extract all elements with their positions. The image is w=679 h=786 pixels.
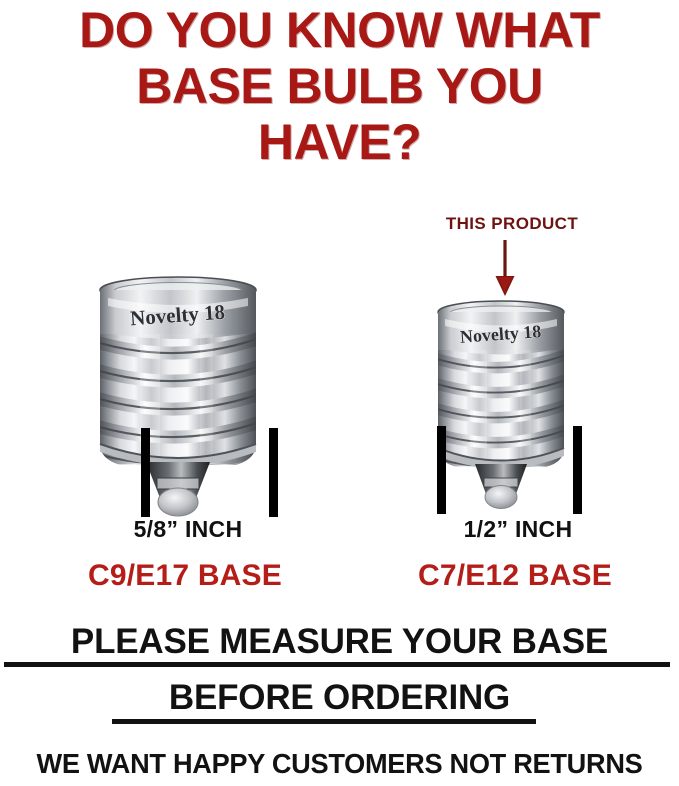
bulb-figure-right: Novelty 18 [428, 288, 588, 517]
message-underline-2 [112, 719, 536, 724]
base-name-right: C7/E12 BASE [370, 559, 660, 593]
measure-tick-left-start [141, 428, 150, 517]
measure-tick-right-end [573, 426, 582, 514]
bulb-figure-left: Novelty 18 [88, 262, 288, 517]
message-line-1: PLEASE MEASURE YOUR BASE [0, 622, 679, 662]
message-line-3: WE WANT HAPPY CUSTOMERS NOT RETURNS [10, 748, 669, 780]
headline-line-1: DO YOU KNOW WHAT [0, 2, 679, 58]
this-product-label: THIS PRODUCT [398, 214, 626, 234]
base-name-left: C9/E17 BASE [40, 559, 330, 593]
message-line-2: BEFORE ORDERING [0, 678, 679, 718]
headline-line-2: BASE BULB YOU [0, 58, 679, 114]
infographic-canvas: DO YOU KNOW WHAT BASE BULB YOU HAVE? THI… [0, 0, 679, 786]
measure-tick-left-end [269, 428, 278, 517]
measurement-right: 1/2” INCH [398, 516, 638, 543]
headline-line-3: HAVE? [0, 114, 679, 170]
measurement-left: 5/8” INCH [58, 516, 318, 543]
measure-tick-right-start [437, 426, 446, 514]
message-underline-1 [4, 662, 670, 667]
page-title: DO YOU KNOW WHAT BASE BULB YOU HAVE? [0, 2, 679, 170]
